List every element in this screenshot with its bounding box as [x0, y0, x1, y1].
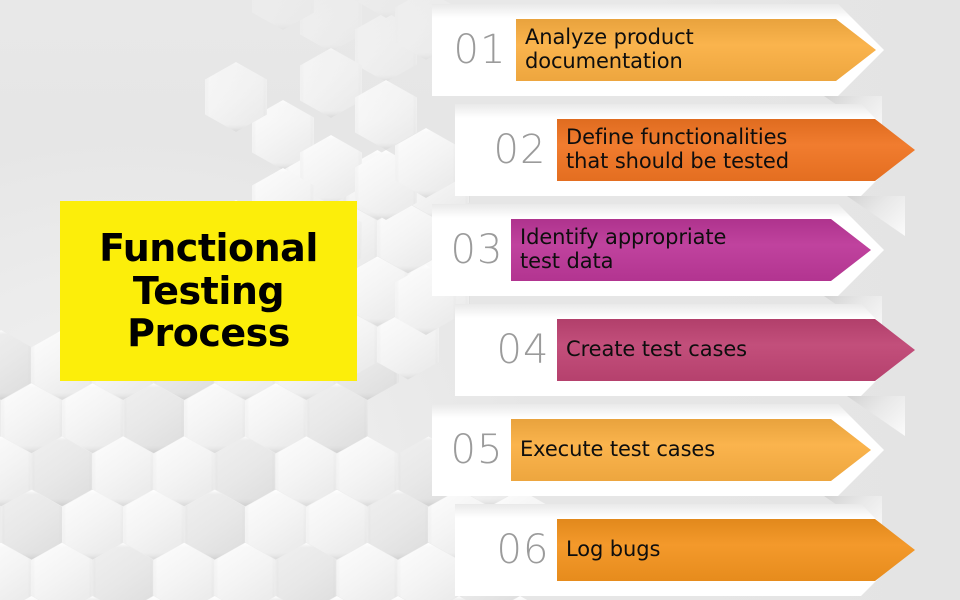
- step-arrow[interactable]: Create test cases: [557, 319, 915, 381]
- process-step-row[interactable]: 03Identify appropriate test data: [0, 200, 960, 300]
- step-number: 02: [484, 119, 556, 181]
- step-label: Log bugs: [557, 538, 704, 562]
- step-label: Create test cases: [557, 338, 791, 362]
- step-label: Identify appropriate test data: [511, 226, 770, 274]
- process-step-row[interactable]: 06Log bugs: [0, 500, 960, 600]
- step-arrow[interactable]: Define functionalities that should be te…: [557, 119, 915, 181]
- process-step-row[interactable]: 02Define functionalities that should be …: [0, 100, 960, 200]
- step-arrow[interactable]: Execute test cases: [511, 419, 871, 481]
- step-number: 05: [441, 419, 513, 481]
- process-steps-list: 01Analyze product documentation02Define …: [0, 0, 960, 600]
- step-number: 01: [444, 19, 516, 81]
- step-number: 04: [487, 319, 559, 381]
- step-label: Analyze product documentation: [516, 26, 738, 74]
- step-number: 06: [487, 519, 559, 581]
- process-step-row[interactable]: 04Create test cases: [0, 300, 960, 400]
- step-arrow[interactable]: Analyze product documentation: [516, 19, 876, 81]
- process-step-row[interactable]: 01Analyze product documentation: [0, 0, 960, 100]
- step-label: Execute test cases: [511, 438, 759, 462]
- step-label: Define functionalities that should be te…: [557, 126, 833, 174]
- step-arrow[interactable]: Identify appropriate test data: [511, 219, 871, 281]
- step-number: 03: [441, 219, 513, 281]
- process-step-row[interactable]: 05Execute test cases: [0, 400, 960, 500]
- step-arrow[interactable]: Log bugs: [557, 519, 915, 581]
- infographic-canvas: Functional Testing Process 01Analyze pro…: [0, 0, 960, 600]
